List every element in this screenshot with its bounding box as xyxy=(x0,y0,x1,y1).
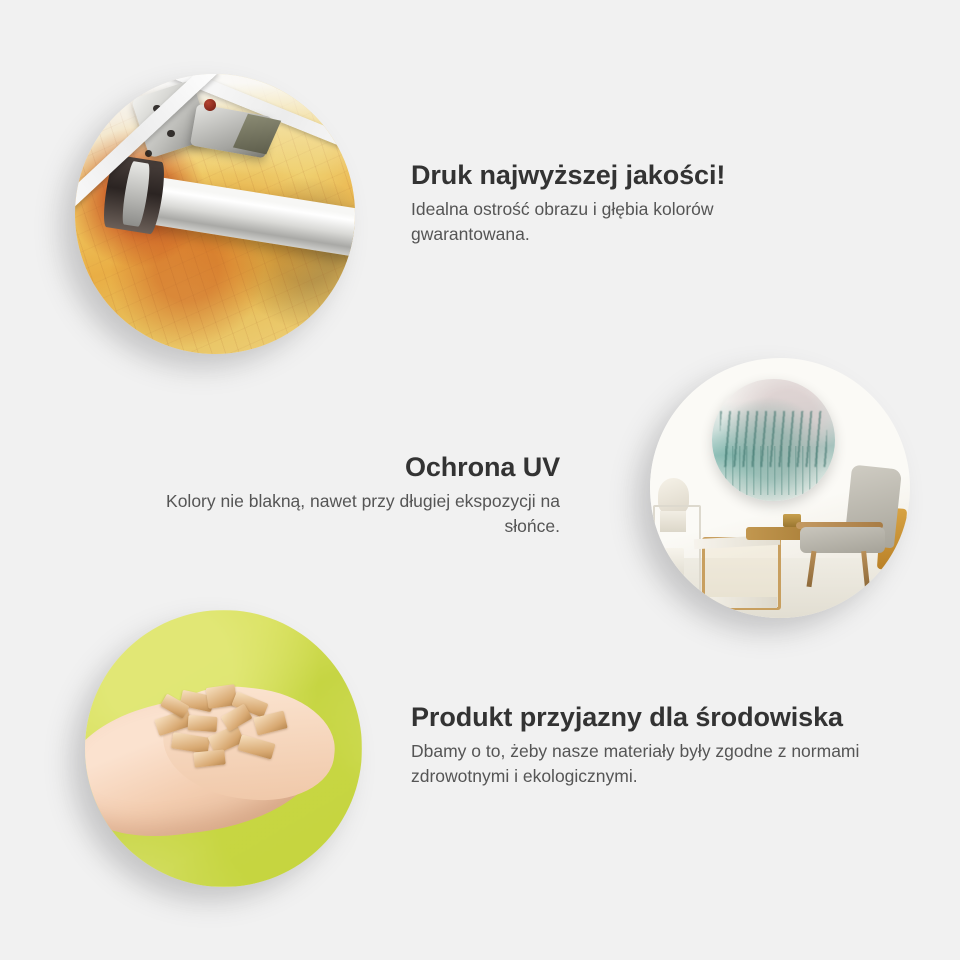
candle xyxy=(660,548,683,577)
printer-map-scene xyxy=(75,74,355,354)
armchair-leg xyxy=(806,551,816,587)
feature-text-print-quality: Druk najwyższej jakości! Idealna ostrość… xyxy=(411,160,831,247)
wood-chip xyxy=(187,715,217,732)
wood-chip xyxy=(171,732,210,753)
feature-body-eco-friendly: Dbamy o to, żeby nasze materiały były zg… xyxy=(411,739,911,789)
feature-image-eco-friendly xyxy=(85,610,362,887)
bolt-icon xyxy=(167,130,174,137)
wood-chip xyxy=(193,750,225,768)
wood-chip xyxy=(238,734,276,759)
wood-chips-scene xyxy=(85,610,362,887)
feature-body-uv-protection: Kolory nie blakną, nawet przy długiej ek… xyxy=(160,489,560,539)
feature-text-uv-protection: Ochrona UV Kolory nie blakną, nawet przy… xyxy=(160,452,560,539)
feature-image-print-quality xyxy=(75,74,355,354)
feature-image-uv-protection xyxy=(650,358,910,618)
interior-room-scene xyxy=(650,358,910,618)
feature-heading-eco-friendly: Produkt przyjazny dla środowiska xyxy=(411,702,911,733)
armchair-leg xyxy=(861,551,870,587)
infographic-stage: Druk najwyższej jakości! Idealna ostrość… xyxy=(0,0,960,960)
feature-heading-uv-protection: Ochrona UV xyxy=(160,452,560,483)
red-knob-icon xyxy=(204,99,216,111)
feature-text-eco-friendly: Produkt przyjazny dla środowiska Dbamy o… xyxy=(411,702,911,789)
feature-body-print-quality: Idealna ostrość obrazu i głębia kolorów … xyxy=(411,197,831,247)
feature-heading-print-quality: Druk najwyższej jakości! xyxy=(411,160,831,191)
stool-lower-books xyxy=(699,597,777,607)
armchair xyxy=(796,467,905,587)
wood-chip-pile xyxy=(146,682,307,787)
armchair-seat xyxy=(800,527,885,553)
